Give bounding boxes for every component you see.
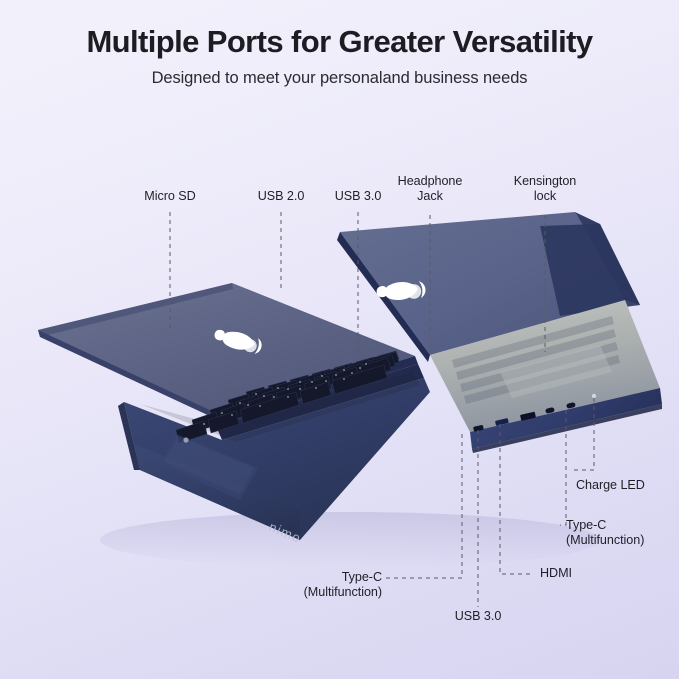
callout-headphone-jack: Headphone Jack <box>398 174 463 204</box>
callout-usb-2-0-top: USB 2.0 <box>258 189 305 204</box>
callout-type-c-right: Type-C (Multifunction) <box>566 518 644 548</box>
callout-usb-3-0-bottom: USB 3.0 <box>455 609 502 624</box>
ground-shadow <box>100 512 600 568</box>
fingerprint-sensor <box>183 437 188 442</box>
callout-usb-3-0-top: USB 3.0 <box>335 189 382 204</box>
infographic-canvas: Multiple Ports for Greater Versatility D… <box>0 0 679 679</box>
callout-charge-led: Charge LED <box>576 478 645 493</box>
callout-micro-sd: Micro SD <box>144 189 195 204</box>
callout-kensington-lock: Kensington lock <box>514 174 577 204</box>
front-laptop: nimo <box>38 283 430 546</box>
callout-hdmi: HDMI <box>540 566 572 581</box>
callout-type-c-bottom: Type-C (Multifunction) <box>304 570 382 600</box>
